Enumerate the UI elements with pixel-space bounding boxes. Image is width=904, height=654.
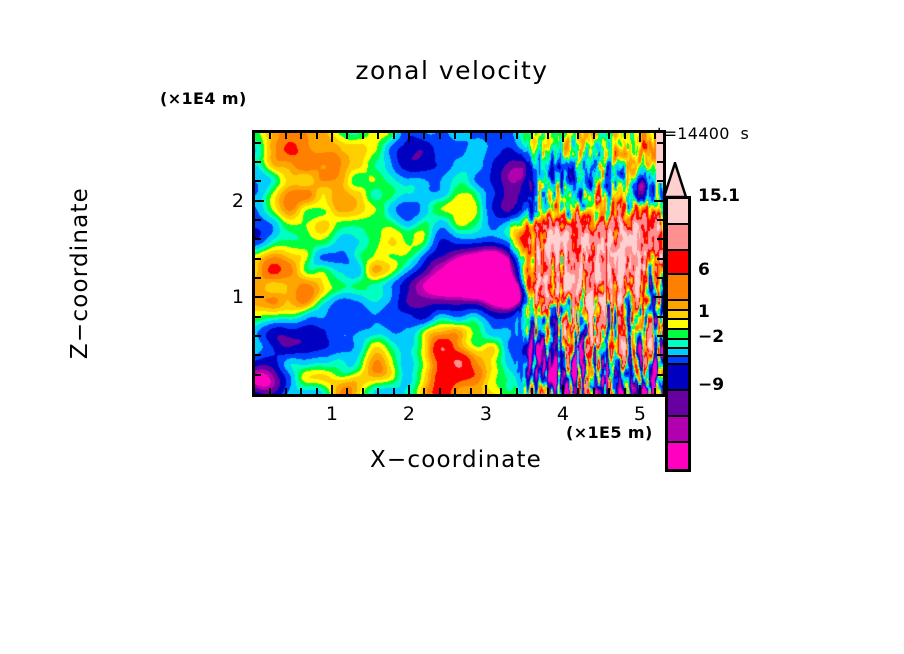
- x-tick: [362, 133, 364, 139]
- x-tick: [285, 133, 287, 139]
- x-tick: [285, 388, 287, 394]
- y-tick: [255, 219, 261, 221]
- x-tick: [654, 133, 656, 139]
- y-tick: [657, 277, 663, 279]
- colorbar-segment: [668, 318, 688, 328]
- colorbar-arrow-icon: [662, 162, 688, 198]
- x-tick: [516, 133, 518, 139]
- y-tick: [255, 335, 261, 337]
- colorbar-segment: [668, 199, 688, 223]
- x-tick: [393, 133, 395, 139]
- x-tick-label: 1: [326, 403, 338, 425]
- colorbar-segment: [668, 347, 688, 355]
- x-tick: [608, 388, 610, 394]
- x-tick: [423, 133, 425, 139]
- y-tick: [657, 335, 663, 337]
- x-tick: [269, 133, 271, 139]
- colorbar-label: −9: [698, 375, 724, 395]
- contour-field: [255, 133, 663, 394]
- x-tick: [300, 133, 302, 139]
- x-tick: [377, 133, 379, 139]
- x-tick: [331, 385, 333, 394]
- y-tick-label: 1: [222, 286, 244, 308]
- colorbar-label: 1: [698, 302, 710, 322]
- colorbar-segment: [668, 299, 688, 309]
- x-tick: [408, 385, 410, 394]
- y-tick: [255, 238, 261, 240]
- x-tick-label: 3: [480, 403, 492, 425]
- colorbar-label: −2: [698, 327, 724, 347]
- x-tick: [470, 388, 472, 394]
- x-tick: [454, 133, 456, 139]
- x-tick: [331, 133, 333, 142]
- y-tick: [657, 258, 663, 260]
- colorbar-segment: [668, 249, 688, 273]
- x-tick: [393, 388, 395, 394]
- x-tick: [562, 385, 564, 394]
- y-tick: [657, 142, 663, 144]
- x-tick: [624, 388, 626, 394]
- colorbar-segment: [668, 309, 688, 318]
- y-tick: [255, 200, 264, 202]
- y-tick: [657, 219, 663, 221]
- x-tick: [531, 388, 533, 394]
- colorbar-segments: [665, 196, 691, 472]
- x-tick-label: 5: [634, 403, 646, 425]
- y-tick: [255, 316, 261, 318]
- x-tick: [346, 133, 348, 139]
- x-tick: [639, 385, 641, 394]
- x-tick: [639, 133, 641, 142]
- y-tick: [255, 142, 261, 144]
- colorbar-label: 15.1: [698, 186, 740, 206]
- y-tick: [255, 296, 264, 298]
- x-tick-label: 2: [403, 403, 415, 425]
- x-tick: [577, 133, 579, 139]
- x-tick: [470, 133, 472, 139]
- colorbar-segment: [668, 355, 688, 363]
- x-tick: [346, 388, 348, 394]
- x-tick: [577, 388, 579, 394]
- x-tick: [593, 388, 595, 394]
- x-axis-unit-label: (×1E5 m): [566, 423, 653, 442]
- x-tick: [269, 388, 271, 394]
- x-tick: [654, 388, 656, 394]
- x-tick: [608, 133, 610, 139]
- x-tick: [300, 388, 302, 394]
- x-tick: [500, 388, 502, 394]
- y-axis-unit-label: (×1E4 m): [160, 89, 247, 108]
- x-tick: [316, 388, 318, 394]
- contour-plot-figure: zonal velocity (×1E4 m) t=14400 s Z−coor…: [0, 0, 904, 654]
- x-tick: [485, 133, 487, 142]
- colorbar-segment: [668, 338, 688, 347]
- y-tick: [255, 374, 261, 376]
- colorbar-segment: [668, 389, 688, 415]
- x-tick: [624, 133, 626, 139]
- x-tick: [362, 388, 364, 394]
- colorbar-segment: [668, 415, 688, 441]
- colorbar-segment: [668, 441, 688, 469]
- x-tick: [516, 388, 518, 394]
- colorbar-segment: [668, 273, 688, 299]
- y-axis-title: Z−coordinate: [67, 133, 93, 413]
- colorbar-segment: [668, 328, 688, 338]
- x-tick: [454, 388, 456, 394]
- x-tick: [500, 133, 502, 139]
- x-tick-label: 4: [557, 403, 569, 425]
- x-tick: [439, 133, 441, 139]
- x-tick: [316, 133, 318, 139]
- y-tick: [657, 374, 663, 376]
- y-tick: [657, 316, 663, 318]
- x-tick: [439, 388, 441, 394]
- y-tick: [657, 354, 663, 356]
- y-tick: [654, 200, 663, 202]
- page-title: zonal velocity: [0, 56, 904, 85]
- x-tick: [408, 133, 410, 142]
- y-tick: [657, 238, 663, 240]
- x-tick: [531, 133, 533, 139]
- y-tick: [654, 296, 663, 298]
- x-tick: [593, 133, 595, 139]
- colorbar-segment: [668, 223, 688, 249]
- x-tick: [562, 133, 564, 142]
- time-annotation: t=14400 s: [657, 124, 749, 143]
- colorbar-segment: [668, 363, 688, 389]
- y-tick: [255, 277, 261, 279]
- x-tick: [547, 388, 549, 394]
- colorbar-label: 6: [698, 260, 710, 280]
- x-tick: [547, 133, 549, 139]
- plot-area: [252, 130, 666, 397]
- y-tick: [255, 258, 261, 260]
- x-axis-title: X−coordinate: [252, 447, 660, 473]
- x-tick: [377, 388, 379, 394]
- x-tick: [485, 385, 487, 394]
- y-tick-label: 2: [222, 190, 244, 212]
- y-tick: [255, 161, 261, 163]
- y-tick: [255, 180, 261, 182]
- x-tick: [423, 388, 425, 394]
- y-tick: [255, 354, 261, 356]
